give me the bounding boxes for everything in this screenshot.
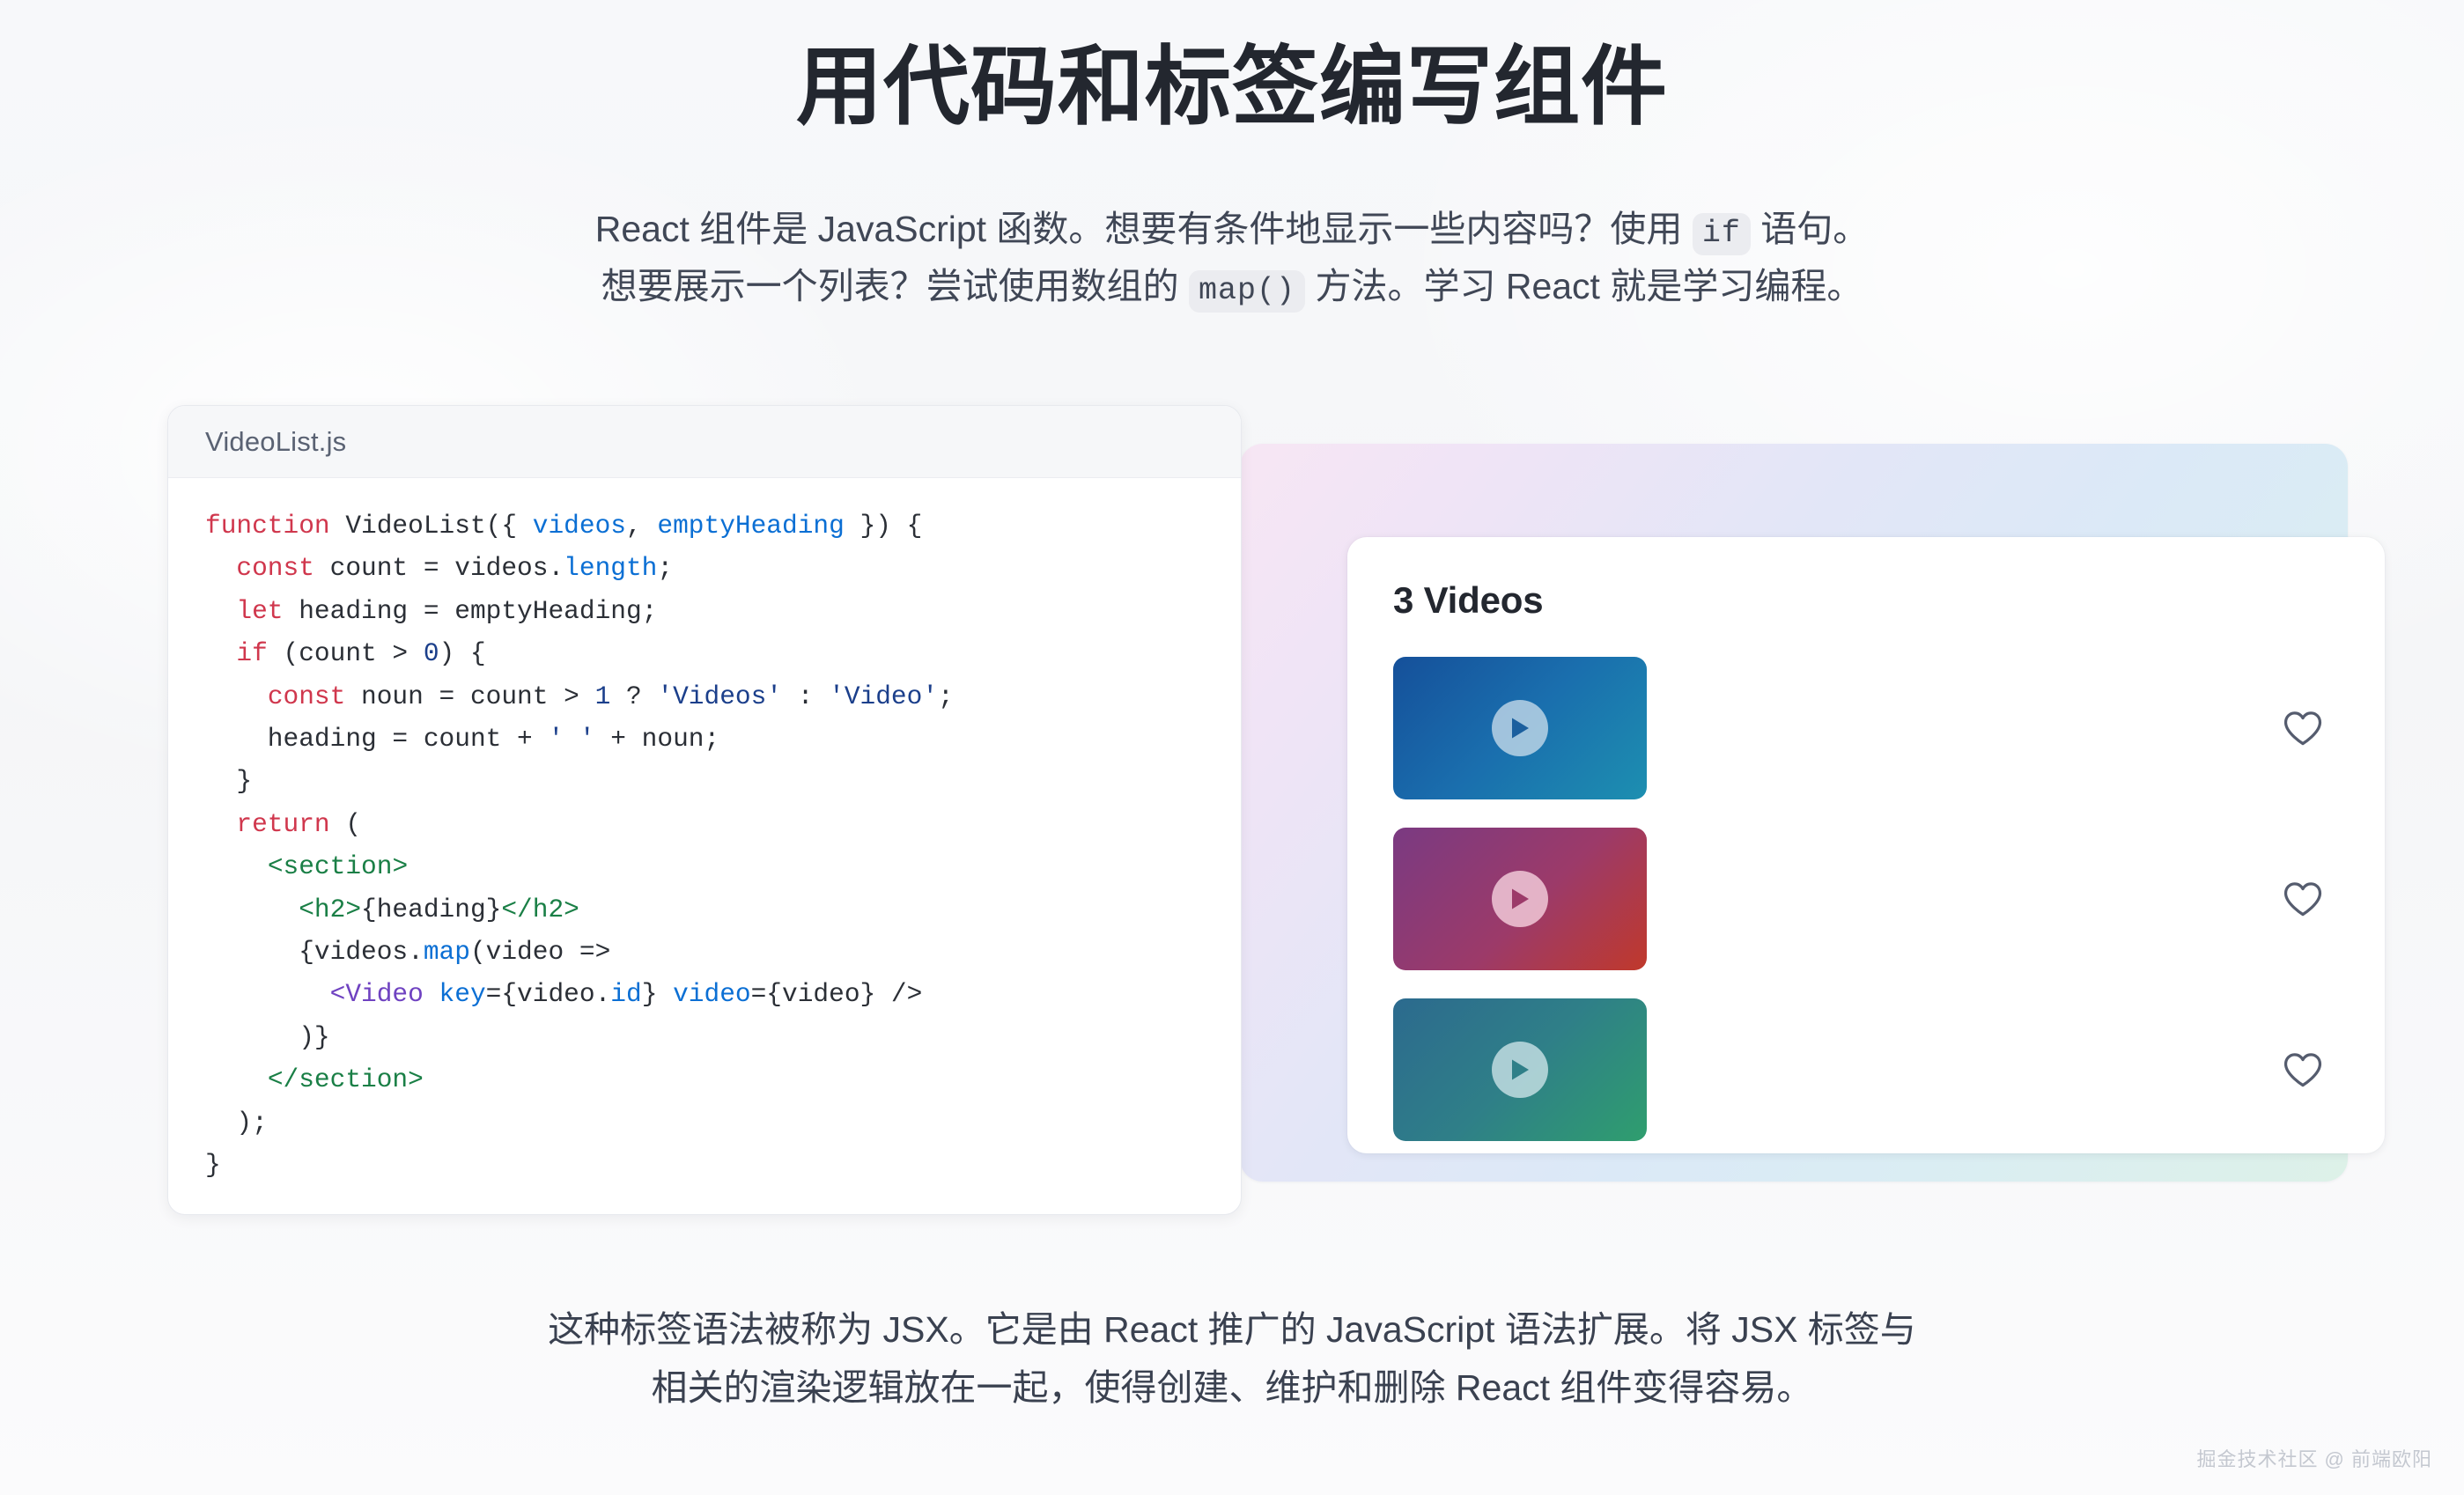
- preview-heading: 3 Videos: [1393, 579, 2339, 622]
- inline-code-if: if: [1693, 213, 1751, 255]
- footer-line-1: 这种标签语法被称为 JSX。它是由 React 推广的 JavaScript 语…: [548, 1309, 1916, 1350]
- play-icon[interactable]: [1492, 871, 1548, 927]
- preview-panel: 3 Videos: [1240, 444, 2348, 1182]
- play-icon[interactable]: [1492, 1042, 1548, 1098]
- video-meta: [1675, 896, 2247, 902]
- page-title: 用代码和标签编写组件: [0, 39, 2464, 136]
- video-row: [1393, 998, 2339, 1141]
- code-line: {videos.map(video =>: [205, 931, 1241, 973]
- code-line: heading = count + ' ' + noun;: [205, 718, 1241, 760]
- code-panel: VideoList.js function VideoList({ videos…: [167, 405, 1242, 1215]
- video-row: [1393, 828, 2339, 970]
- code-panel-header: VideoList.js: [168, 406, 1241, 478]
- code-filename: VideoList.js: [205, 426, 346, 458]
- play-icon[interactable]: [1492, 700, 1548, 756]
- subtitle-text-3: 想要展示一个列表？尝试使用数组的: [601, 266, 1189, 306]
- code-line: let heading = emptyHeading;: [205, 590, 1241, 632]
- footer-line-2: 相关的渲染逻辑放在一起，使得创建、维护和删除 React 组件变得容易。: [652, 1367, 1813, 1408]
- code-line: if (count > 0) {: [205, 632, 1241, 674]
- heart-outline-icon[interactable]: [2276, 872, 2330, 926]
- code-line: <Video key={video.id} video={video} />: [205, 973, 1241, 1015]
- demo-stage: 3 Videos VideoList.js function VideoList…: [0, 405, 2464, 1224]
- video-meta: [1675, 725, 2247, 732]
- code-line: function VideoList({ videos, emptyHeadin…: [205, 504, 1241, 547]
- code-line: }: [205, 1144, 1241, 1186]
- subtitle-text-4: 方法。学习 React 就是学习编程。: [1305, 266, 1863, 306]
- inline-code-map: map(): [1189, 270, 1305, 313]
- code-line: )}: [205, 1016, 1241, 1058]
- video-thumbnail[interactable]: [1393, 657, 1647, 799]
- video-thumbnail[interactable]: [1393, 998, 1647, 1141]
- video-meta: [1675, 1067, 2247, 1073]
- footer-paragraph: 这种标签语法被称为 JSX。它是由 React 推广的 JavaScript 语…: [483, 1301, 1981, 1417]
- code-editor[interactable]: function VideoList({ videos, emptyHeadin…: [168, 478, 1241, 1187]
- video-thumbnail[interactable]: [1393, 828, 1647, 970]
- code-line: }: [205, 760, 1241, 802]
- code-line: return (: [205, 803, 1241, 845]
- page-subtitle: React 组件是 JavaScript 函数。想要有条件地显示一些内容吗？使用…: [510, 201, 1954, 316]
- code-line: const count = videos.length;: [205, 547, 1241, 589]
- heart-outline-icon[interactable]: [2276, 1042, 2330, 1097]
- subtitle-text-1: React 组件是 JavaScript 函数。想要有条件地显示一些内容吗？使用: [595, 209, 1693, 249]
- video-row: [1393, 657, 2339, 799]
- heart-outline-icon[interactable]: [2276, 701, 2330, 755]
- watermark: 掘金技术社区 @ 前端欧阳: [2196, 1444, 2432, 1472]
- subtitle-text-2: 语句。: [1751, 209, 1869, 249]
- video-list: [1393, 657, 2339, 1141]
- code-line: const noun = count > 1 ? 'Videos' : 'Vid…: [205, 675, 1241, 718]
- preview-card: 3 Videos: [1347, 537, 2385, 1153]
- page-root: 用代码和标签编写组件 React 组件是 JavaScript 函数。想要有条件…: [0, 0, 2464, 1495]
- code-line: </section>: [205, 1058, 1241, 1101]
- code-line: <h2>{heading}</h2>: [205, 888, 1241, 931]
- code-line: );: [205, 1101, 1241, 1144]
- code-line: <section>: [205, 845, 1241, 887]
